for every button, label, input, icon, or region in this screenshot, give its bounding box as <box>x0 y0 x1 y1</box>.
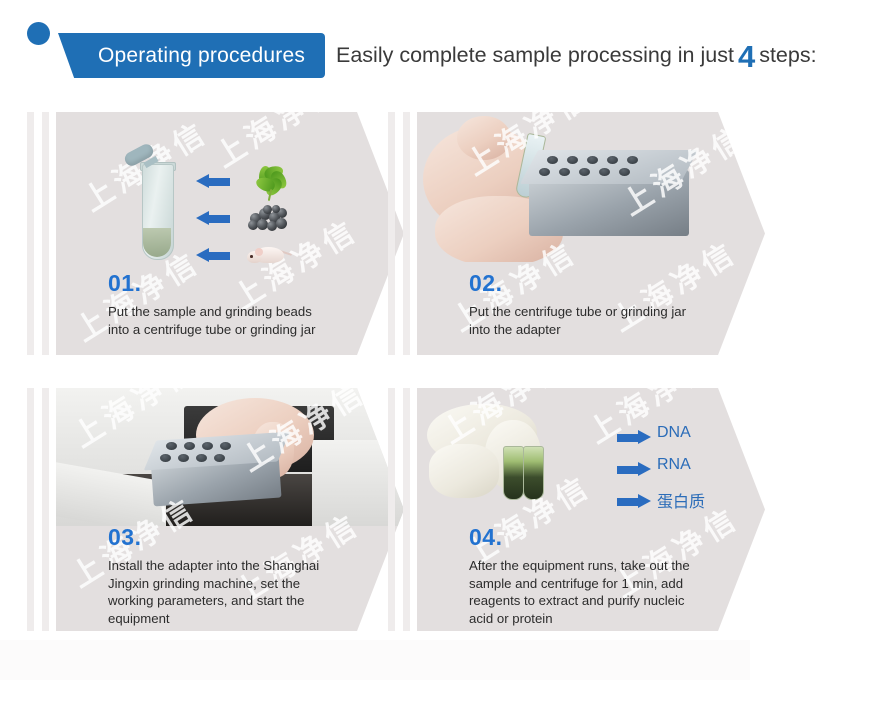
bottom-band <box>0 640 750 680</box>
header-tagline: Easily complete sample processing in jus… <box>336 33 817 78</box>
finger-shape <box>457 116 511 160</box>
centrifuge-tube-icon <box>134 150 180 258</box>
watermark-text: 上海净信 <box>205 112 347 176</box>
header-banner-label: Operating procedures <box>78 33 325 78</box>
card-accent-bar-outer <box>27 388 34 631</box>
step-02-photo <box>417 112 765 262</box>
step-number: 02. <box>469 272 745 295</box>
step-04-photo <box>427 398 603 518</box>
plant-leaf-icon <box>252 165 286 197</box>
step-description: Put the centrifuge tube or grinding jar … <box>469 303 745 338</box>
gloved-thumb-shape <box>429 444 499 498</box>
step-card-02: 上海净信 上海净信 上海净信 上海净信 02. Put the centrifu… <box>383 106 783 361</box>
step-card-01: 上海净信 上海净信 上海净信 上海净信 <box>22 106 422 361</box>
arrow-right-icon <box>617 494 651 509</box>
watermark-text: 上海净信 <box>73 112 215 220</box>
header-tagline-before: Easily complete sample processing in jus… <box>336 43 734 68</box>
tube-body <box>142 164 174 260</box>
arrow-left-icon <box>196 174 230 189</box>
step-03-text: 03. Install the adapter into the Shangha… <box>108 526 384 627</box>
card-accent-bar-inner <box>42 388 49 631</box>
step-description: Install the adapter into the Shanghai Ji… <box>108 557 384 627</box>
card-accent-bar-inner <box>403 112 410 355</box>
arrow-right-icon <box>617 430 651 445</box>
arrow-right-icon <box>617 462 651 477</box>
step-panel-02: 上海净信 上海净信 上海净信 上海净信 02. Put the centrifu… <box>417 112 765 355</box>
adapter-block-top <box>520 150 698 184</box>
step-02-text: 02. Put the centrifuge tube or grinding … <box>469 272 745 338</box>
step-number: 03. <box>108 526 384 549</box>
header-dot-decoration <box>27 22 50 45</box>
tube-cap <box>122 142 155 168</box>
step-card-03: 上海净信 上海净信 上海净信 上海净信 03. Install the adap… <box>22 382 422 637</box>
step-description: Put the sample and grinding beads into a… <box>108 303 384 338</box>
header-tagline-after: steps: <box>759 43 816 68</box>
tube-hinge <box>143 156 158 168</box>
tube-liquid <box>143 228 171 257</box>
step-01-text: 01. Put the sample and grinding beads in… <box>108 272 384 338</box>
arrow-left-icon <box>196 248 230 263</box>
arrow-left-icon <box>196 211 230 226</box>
step-number: 01. <box>108 272 384 295</box>
step-number: 04. <box>469 526 745 549</box>
step-03-photo <box>56 388 404 526</box>
steps-grid: 上海净信 上海净信 上海净信 上海净信 <box>0 104 869 644</box>
output-label-dna: DNA <box>657 424 691 442</box>
step-panel-04: DNA RNA 蛋白质 上海净信 上海净信 上海净信 上海净信 04. Afte… <box>417 388 765 631</box>
output-label-protein: 蛋白质 <box>657 488 705 512</box>
steel-grinding-beads-icon <box>248 205 290 231</box>
card-accent-bar-outer <box>27 112 34 355</box>
header-step-count: 4 <box>734 41 759 72</box>
card-accent-bar-inner <box>403 388 410 631</box>
laboratory-mouse-icon <box>246 242 290 266</box>
step-description: After the equipment runs, take out the s… <box>469 557 745 627</box>
page-header: Operating procedures Easily complete sam… <box>0 0 869 100</box>
step-panel-03: 上海净信 上海净信 上海净信 上海净信 03. Install the adap… <box>56 388 404 631</box>
step-04-text: 04. After the equipment runs, take out t… <box>469 526 745 627</box>
card-accent-bar-outer <box>388 112 395 355</box>
step-panel-01: 上海净信 上海净信 上海净信 上海净信 <box>56 112 404 355</box>
card-accent-bar-inner <box>42 112 49 355</box>
card-accent-bar-outer <box>388 388 395 631</box>
step-card-04: DNA RNA 蛋白质 上海净信 上海净信 上海净信 上海净信 04. Afte… <box>383 382 783 637</box>
processed-tube <box>523 446 544 500</box>
output-label-rna: RNA <box>657 456 691 474</box>
tube-rim <box>140 162 176 171</box>
processed-tube <box>503 446 524 500</box>
